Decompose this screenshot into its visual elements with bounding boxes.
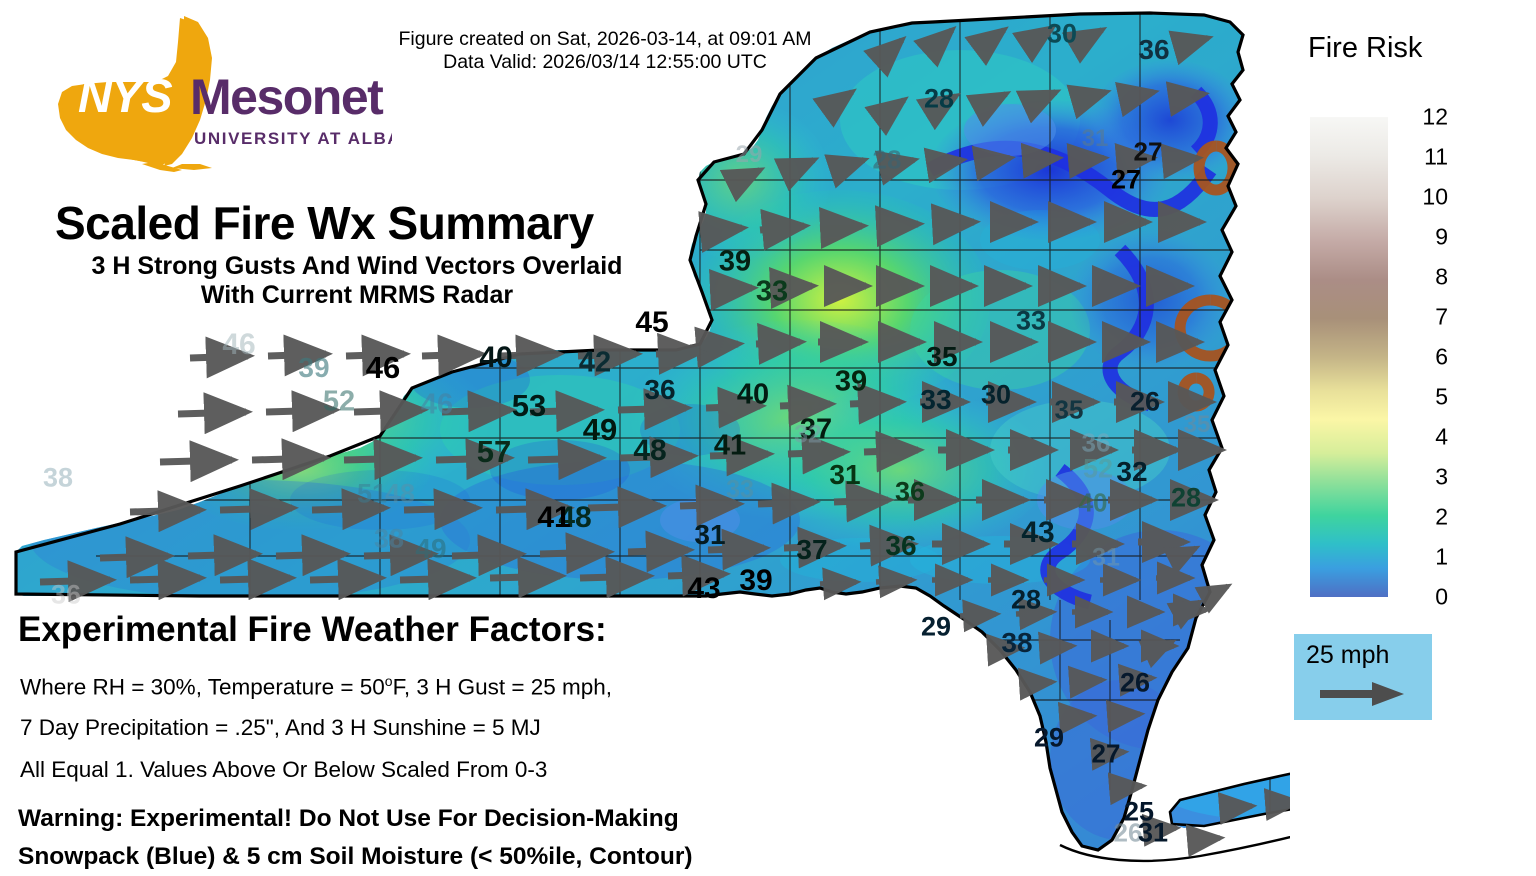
factor-line-1a: Where RH = 30%, Temperature = 50 bbox=[20, 675, 385, 700]
colorbar-tick-8: 8 bbox=[1408, 264, 1448, 291]
colorbar-tick-10: 10 bbox=[1408, 184, 1448, 211]
page-subtitle: 3 H Strong Gusts And Wind Vectors Overla… bbox=[46, 252, 668, 310]
colorbar-tick-5: 5 bbox=[1408, 384, 1448, 411]
wind-legend-arrow-icon bbox=[1320, 680, 1406, 708]
colorbar-title: Fire Risk bbox=[1308, 32, 1422, 65]
nys-mesonet-logo: NYS Mesonet UNIVERSITY AT ALBANY bbox=[22, 12, 392, 177]
colorbar-tick-7: 7 bbox=[1408, 304, 1448, 331]
colorbar-tick-11: 11 bbox=[1408, 144, 1448, 171]
colorbar-tick-9: 9 bbox=[1408, 224, 1448, 251]
figure-created-text: Figure created on Sat, 2026-03-14, at 09… bbox=[360, 28, 850, 51]
colorbar-tick-3: 3 bbox=[1408, 464, 1448, 491]
factor-line-1b: F, 3 H Gust = 25 mph, bbox=[393, 675, 612, 700]
factor-line-1: Where RH = 30%, Temperature = 50oF, 3 H … bbox=[20, 673, 612, 701]
colorbar-tick-4: 4 bbox=[1408, 424, 1448, 451]
factors-heading: Experimental Fire Weather Factors: bbox=[18, 610, 607, 650]
colorbar-tick-0: 0 bbox=[1408, 584, 1448, 611]
degree-symbol: o bbox=[385, 673, 393, 689]
logo-nys-text: NYS bbox=[78, 69, 172, 122]
fire-risk-colorbar bbox=[1310, 117, 1388, 597]
wind-legend-label: 25 mph bbox=[1306, 641, 1389, 670]
warning-line-2: Snowpack (Blue) & 5 cm Soil Moisture (< … bbox=[18, 843, 693, 871]
page-title: Scaled Fire Wx Summary bbox=[55, 196, 594, 250]
logo-university-text: UNIVERSITY AT ALBANY bbox=[194, 129, 392, 148]
data-valid-text: Data Valid: 2026/03/14 12:55:00 UTC bbox=[360, 51, 850, 74]
colorbar-tick-2: 2 bbox=[1408, 504, 1448, 531]
factor-line-3: All Equal 1. Values Above Or Below Scale… bbox=[20, 757, 547, 783]
colorbar-tick-12: 12 bbox=[1408, 104, 1448, 131]
colorbar-tick-6: 6 bbox=[1408, 344, 1448, 371]
colorbar-tick-labels: 1211109876543210 bbox=[1408, 117, 1468, 597]
subtitle-line-2: With Current MRMS Radar bbox=[46, 281, 668, 310]
subtitle-line-1: 3 H Strong Gusts And Wind Vectors Overla… bbox=[46, 252, 668, 281]
colorbar-tick-1: 1 bbox=[1408, 544, 1448, 571]
factor-line-2: 7 Day Precipitation = .25", And 3 H Suns… bbox=[20, 715, 541, 741]
logo-svg: NYS Mesonet UNIVERSITY AT ALBANY bbox=[22, 12, 392, 177]
warning-line-1: Warning: Experimental! Do Not Use For De… bbox=[18, 805, 679, 833]
wind-speed-legend: 25 mph bbox=[1294, 634, 1432, 720]
logo-mesonet-text: Mesonet bbox=[190, 69, 384, 125]
figure-timestamp-block: Figure created on Sat, 2026-03-14, at 09… bbox=[360, 28, 850, 74]
